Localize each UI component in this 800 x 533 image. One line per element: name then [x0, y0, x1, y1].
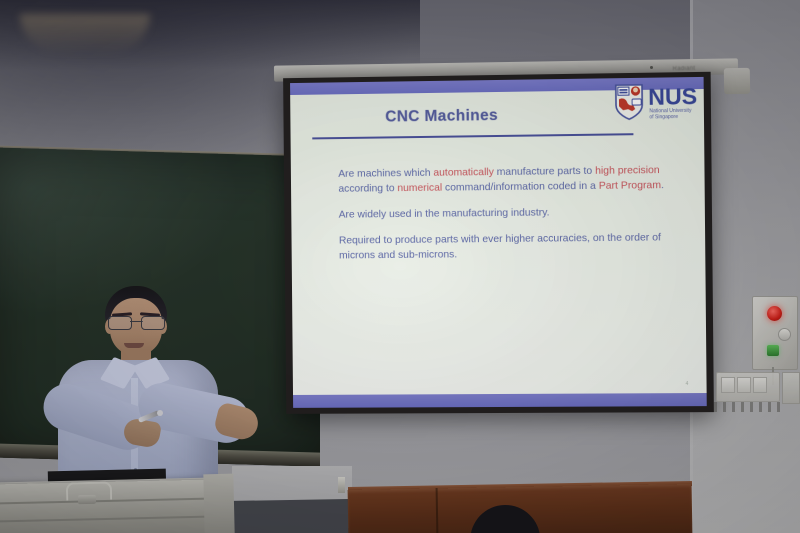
nus-logo-svg: NUS National University of Singapore	[612, 78, 705, 126]
bullet-text: manufacture parts to	[494, 166, 595, 178]
bullet-text: command/information coded in a	[442, 181, 599, 194]
pen-tip	[157, 410, 163, 416]
lecture-hall-photo: Radiant CNC Machines	[0, 0, 800, 533]
lecturer-mouth	[124, 343, 144, 348]
bullet-highlight-text: Part Program	[599, 180, 661, 192]
eyeglasses-icon	[108, 316, 165, 328]
wall-control-panel[interactable]	[752, 296, 798, 370]
presentation-slide: CNC Machines NUS	[290, 77, 707, 408]
slide-bullet: Are widely used in the manufacturing ind…	[339, 204, 687, 223]
slide-bullet-list: Are machines which automatically manufac…	[338, 163, 687, 275]
bullet-highlight-text: numerical	[397, 183, 442, 194]
light-switch-plate[interactable]	[716, 372, 780, 402]
green-push-button[interactable]	[767, 345, 779, 356]
case-brand-dot	[650, 66, 653, 69]
nus-wordmark: NUS	[648, 83, 697, 110]
bullet-text: according to	[338, 183, 397, 195]
slide-bottom-band	[293, 393, 707, 408]
lectern-side-panel	[203, 474, 234, 533]
bullet-text: Are widely used in the manufacturing ind…	[339, 208, 550, 221]
projector-screen-case-end-cap	[724, 68, 750, 94]
light-switch[interactable]	[737, 377, 751, 393]
ceiling-lamp-glow	[20, 14, 150, 52]
bullet-text: Required to produce parts with ever high…	[339, 233, 661, 262]
slide-bullet: Are machines which automatically manufac…	[338, 163, 686, 197]
projection-screen-frame: CNC Machines NUS	[283, 72, 714, 414]
eyeglass-lens-right	[141, 316, 165, 330]
bullet-text: .	[661, 180, 664, 191]
light-switch[interactable]	[721, 377, 735, 393]
slide-page-number: 4	[685, 381, 688, 387]
light-switch[interactable]	[753, 377, 767, 393]
slide-bullet: Required to produce parts with ever high…	[339, 230, 687, 263]
bullet-text: Are machines which	[338, 168, 433, 180]
lectern-latch[interactable]	[78, 495, 96, 504]
bullet-highlight-text: high precision	[595, 165, 660, 177]
slide-title: CNC Machines	[385, 107, 498, 127]
control-knob[interactable]	[778, 328, 791, 341]
eyeglass-lens-left	[108, 316, 132, 330]
wall-socket-box[interactable]	[782, 372, 800, 404]
podium-microphone-icon	[338, 477, 345, 493]
slide-title-rule	[312, 133, 633, 139]
power-indicator-light	[767, 306, 782, 321]
nus-tagline-line2: of Singapore	[649, 114, 678, 120]
slide-body: CNC Machines NUS	[290, 89, 706, 395]
bullet-highlight-text: automatically	[433, 167, 494, 179]
socket-outlet-row[interactable]	[714, 402, 782, 412]
nus-logo: NUS National University of Singapore	[612, 78, 705, 126]
